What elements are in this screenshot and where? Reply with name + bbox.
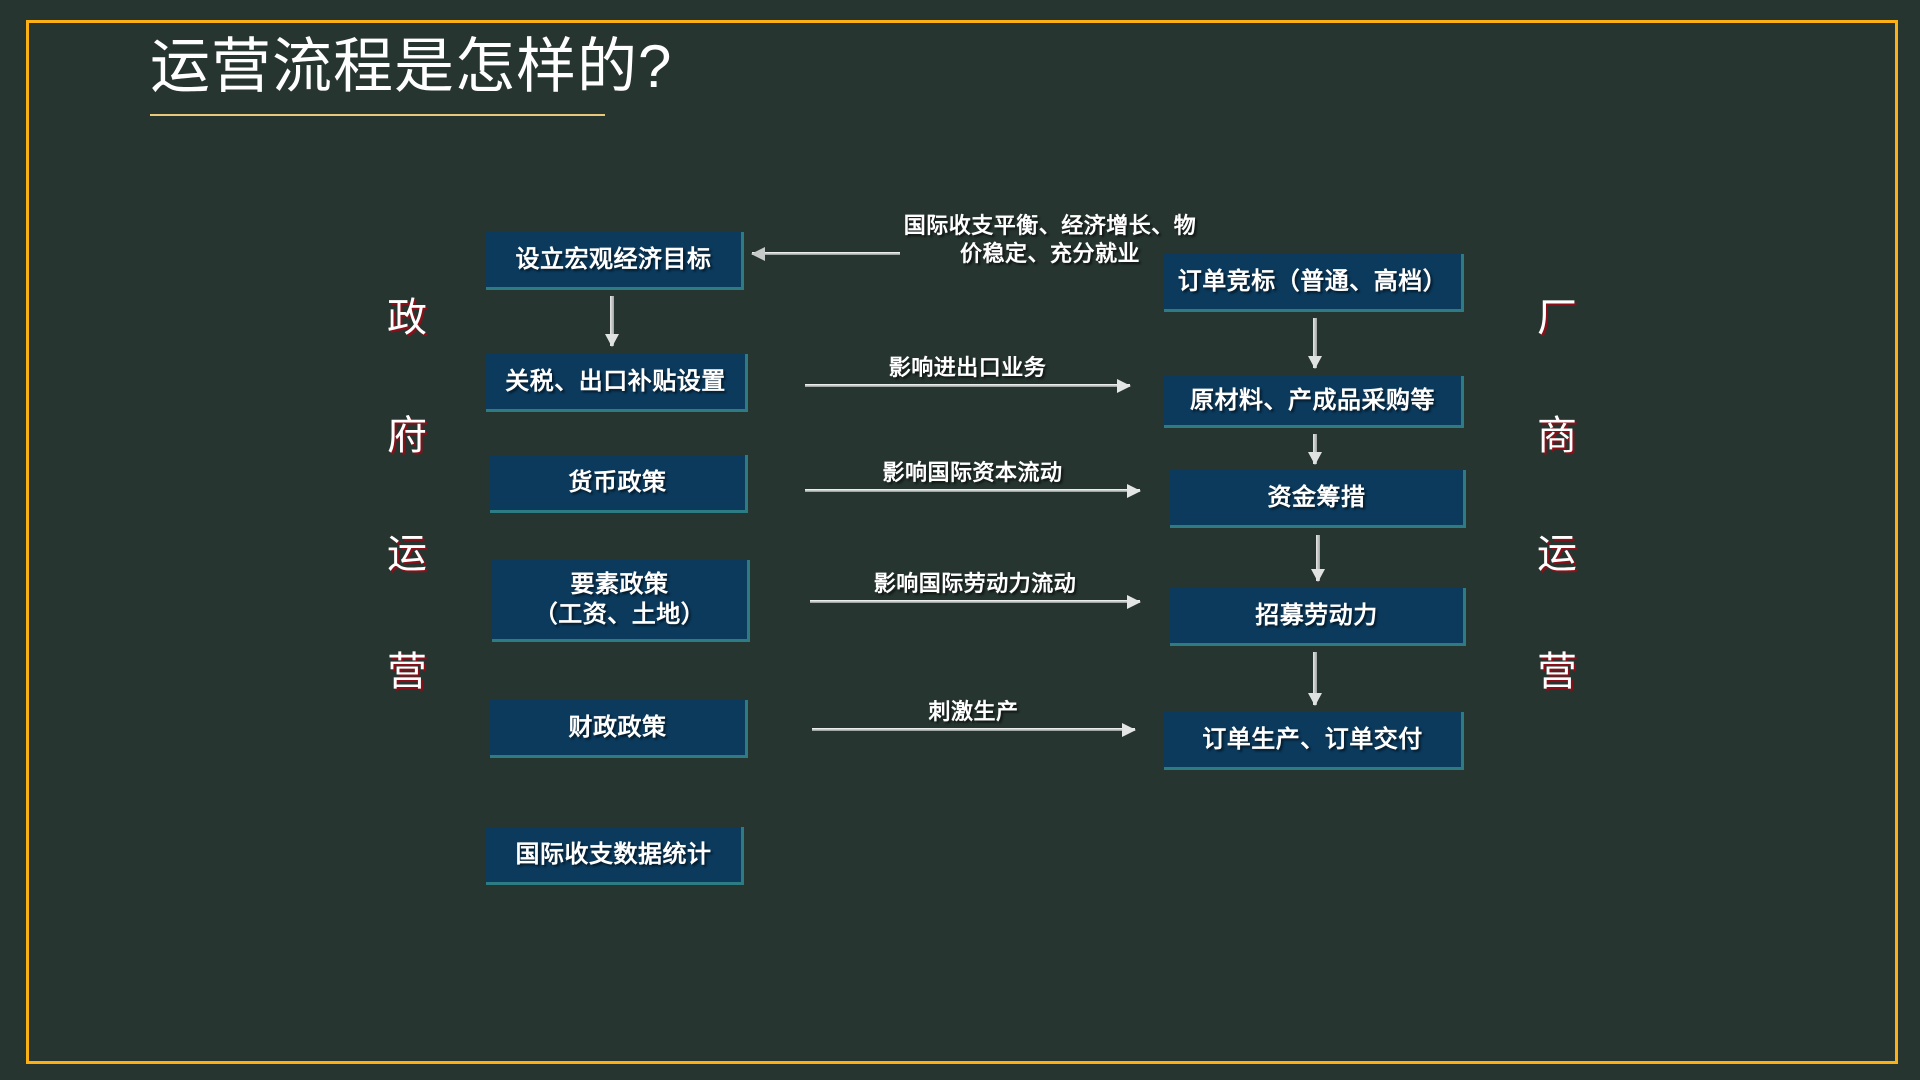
down-arrow-icon [1308, 652, 1322, 705]
arrow-shaft [810, 600, 1140, 603]
relation-label: 国际收支平衡、经济增长、物价稳定、充分就业 [900, 212, 1200, 270]
relation-label: 刺激生产 [812, 698, 1135, 728]
side-label-firm: 厂 商 运 营 [1522, 285, 1592, 757]
side-label-char: 政 [372, 285, 442, 343]
relation-label: 影响国际劳动力流动 [810, 570, 1140, 600]
title-underline [150, 114, 605, 116]
side-label-char: 营 [1522, 639, 1592, 697]
process-box-funding[interactable]: 资金筹措 [1170, 470, 1466, 528]
process-box-monetary-policy[interactable]: 货币政策 [490, 455, 748, 513]
process-box-order-production-delivery[interactable]: 订单生产、订单交付 [1164, 712, 1464, 770]
arrow-head [1308, 356, 1322, 369]
side-label-government: 政 府 运 营 [372, 285, 442, 757]
side-label-char: 营 [372, 639, 442, 697]
right-arrow-head-icon [1127, 484, 1141, 498]
arrow-shaft [805, 384, 1130, 387]
down-arrow-icon [1308, 434, 1322, 464]
down-arrow-icon [605, 296, 619, 346]
process-box-order-bidding[interactable]: 订单竞标（普通、高档） [1164, 254, 1464, 312]
arrow-shaft [805, 489, 1140, 492]
process-box-tariff-subsidy[interactable]: 关税、出口补贴设置 [486, 354, 748, 412]
title-block: 运营流程是怎样的? [150, 30, 730, 116]
relation-label: 影响国际资本流动 [805, 459, 1140, 489]
process-box-recruit-labor[interactable]: 招募劳动力 [1170, 588, 1466, 646]
side-label-char: 运 [1522, 521, 1592, 579]
right-arrow-head-icon [1117, 379, 1131, 393]
right-arrow-head-icon [1122, 723, 1136, 737]
right-arrow-head-icon [1127, 595, 1141, 609]
side-label-char: 运 [372, 521, 442, 579]
process-box-fiscal-policy[interactable]: 财政政策 [490, 700, 748, 758]
arrow-shaft [812, 728, 1135, 731]
arrow-head [1308, 452, 1322, 465]
slide-border-frame [26, 20, 1898, 1064]
process-box-bop-statistics[interactable]: 国际收支数据统计 [486, 827, 744, 885]
process-box-macro-goal[interactable]: 设立宏观经济目标 [486, 232, 744, 290]
page-title: 运营流程是怎样的? [150, 30, 730, 104]
side-label-char: 商 [1522, 403, 1592, 461]
down-arrow-icon [1308, 318, 1322, 368]
arrow-head [1308, 693, 1322, 706]
left-arrow-head-icon [751, 247, 765, 261]
arrow-head [1311, 569, 1325, 582]
down-arrow-icon [1311, 535, 1325, 581]
arrow-shaft [752, 252, 900, 255]
arrow-head [605, 334, 619, 347]
side-label-char: 厂 [1522, 285, 1592, 343]
process-box-material-purchase[interactable]: 原材料、产成品采购等 [1164, 376, 1464, 428]
side-label-char: 府 [372, 403, 442, 461]
process-box-factor-policy[interactable]: 要素政策 （工资、土地） [492, 560, 750, 642]
relation-label: 影响进出口业务 [805, 354, 1130, 384]
